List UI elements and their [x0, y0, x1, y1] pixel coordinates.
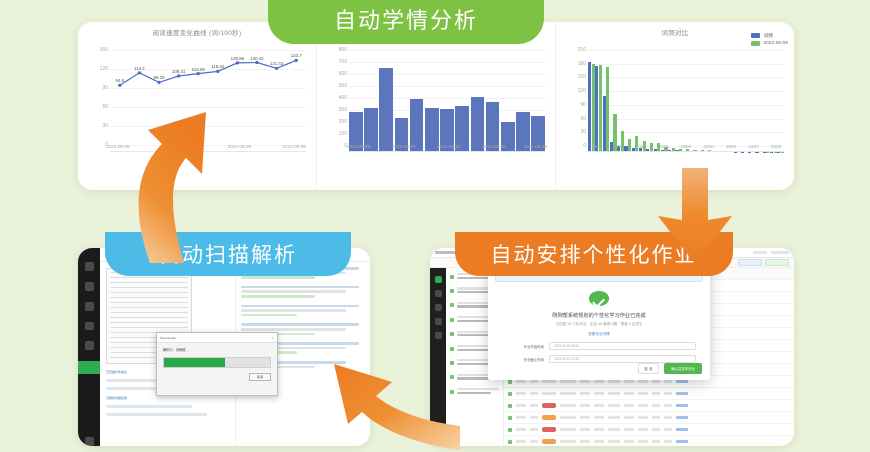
modal-title: 刚刚帮系统规划的个性化学习作业已完成	[488, 312, 710, 319]
settings-gear-icon[interactable]	[85, 437, 94, 446]
y-tick: 100	[325, 131, 347, 137]
table-cell	[664, 392, 672, 395]
field-label: 作业开始时间	[502, 344, 544, 349]
table-cell	[652, 380, 660, 383]
data-point-label: 133.7	[291, 53, 302, 58]
bar-group	[588, 44, 595, 152]
progress-bar	[163, 357, 271, 368]
table-row[interactable]	[504, 388, 794, 400]
table-cell	[580, 404, 590, 407]
progress-fill	[164, 358, 225, 367]
dialog-titlebar: Sourcecode ×	[157, 333, 277, 343]
bar-group	[632, 44, 639, 152]
data-point-label: 129.86	[231, 56, 244, 61]
scanner-app: 已扫描文件信息 已解析内容目录	[78, 248, 370, 446]
infographic-stage: 阅读速度变化曲线 (词/100秒) 150 120 90 60 30 0 94.…	[0, 0, 870, 452]
table-cell	[542, 439, 556, 444]
bar-group	[675, 44, 682, 152]
table-cell	[638, 404, 648, 407]
legend-swatch-icon	[751, 33, 760, 38]
status-dot	[450, 375, 454, 379]
assign-homework-button[interactable]	[765, 259, 789, 266]
bar-group	[755, 44, 762, 152]
table-row[interactable]	[504, 412, 794, 424]
bar	[599, 65, 602, 152]
cancel-button[interactable]: 取 消	[638, 363, 660, 374]
x-tick: 2022-06-09	[228, 144, 252, 149]
grouped-bar-series	[588, 44, 784, 152]
table-cell	[652, 392, 660, 395]
x-axis: 2008001400200026003200380044005000	[588, 142, 784, 154]
table-cell	[530, 428, 538, 431]
y-tick: 150	[86, 47, 108, 53]
start-time-field[interactable]: 作业开始时间 2022-06-09 08:00	[502, 342, 696, 350]
table-cell	[542, 427, 556, 432]
filter-button[interactable]	[738, 259, 762, 266]
table-cell	[676, 428, 688, 431]
y-tick: 120	[86, 66, 108, 72]
x-axis: 2022-06-09 2022-06-09 2022-06-09 2022-06…	[349, 142, 545, 154]
x-tick: 2022-06-09	[392, 144, 416, 149]
y-tick: 800	[325, 47, 347, 53]
bar-group	[770, 44, 777, 152]
table-cell	[652, 428, 660, 431]
bar-group	[697, 44, 704, 152]
y-tick: 200	[325, 119, 347, 125]
y-tick: 30	[86, 123, 108, 129]
table-cell	[594, 404, 604, 407]
bar-group	[690, 44, 697, 152]
y-tick: 0	[325, 143, 347, 149]
bar	[379, 68, 393, 152]
row-status-dot	[508, 404, 512, 408]
user-name[interactable]	[753, 251, 767, 254]
list-item[interactable]	[450, 388, 499, 395]
table-cell	[624, 392, 634, 395]
table-cell	[676, 440, 688, 443]
table-cell	[676, 380, 688, 383]
table-cell	[594, 416, 604, 419]
app-body: 已扫描文件信息 已解析内容目录	[100, 248, 370, 446]
list-item-label	[457, 388, 499, 395]
y-tick: 700	[325, 59, 347, 65]
y-tick: 90	[86, 85, 108, 91]
bar-group	[763, 44, 770, 152]
table-cell	[676, 404, 688, 407]
data-point-label: 109.41	[172, 69, 185, 74]
table-cell	[560, 428, 576, 431]
bar-group	[705, 44, 712, 152]
line-series: 94.8114.499.33109.41113.09116.62129.8613…	[110, 44, 306, 152]
data-point-label: 113.09	[192, 67, 205, 72]
table-cell	[594, 392, 604, 395]
settings-gear-icon[interactable]	[435, 434, 442, 441]
x-tick: 2022-06-09	[482, 144, 506, 149]
chart-reading-speed: 阅读速度变化曲线 (词/100秒) 150 120 90 60 30 0 94.…	[78, 22, 316, 190]
bar-group	[654, 44, 661, 152]
y-tick: 0	[564, 143, 586, 149]
table-cell	[516, 404, 526, 407]
table-cell	[530, 380, 538, 383]
start-time-input[interactable]: 2022-06-09 08:00	[549, 342, 696, 350]
table-cell	[542, 403, 556, 408]
x-tick: 2022-06-09	[347, 144, 371, 149]
logout-link[interactable]	[771, 251, 789, 254]
end-time-input[interactable]: 2022-06-12 22:00	[549, 355, 696, 363]
path-heading: 已解析内容目录	[106, 396, 229, 400]
x-tick: 1400	[636, 144, 646, 149]
data-point-label: 130.42	[250, 56, 263, 61]
table-row[interactable]	[504, 424, 794, 436]
bar-group	[683, 44, 690, 152]
data-point-label: 121.43	[270, 61, 283, 66]
table-cell	[580, 416, 590, 419]
row-status-dot	[508, 440, 512, 444]
table-cell	[664, 380, 672, 383]
table-cell	[624, 428, 634, 431]
x-tick: 2022-06-09	[282, 144, 306, 149]
x-axis: 2022-06-09 2022-06-09 2022-06-09 2022-06…	[110, 142, 306, 154]
table-cell	[652, 440, 660, 443]
status-dot	[450, 275, 454, 279]
table-cell	[530, 440, 538, 443]
table-cell	[516, 416, 526, 419]
y-tick: 60	[564, 116, 586, 122]
bar-group	[777, 44, 784, 152]
table-row[interactable]	[504, 436, 794, 446]
y-tick: 60	[86, 104, 108, 110]
data-point-label: 114.4	[134, 66, 145, 71]
homework-admin-card: 刚刚帮系统规划的个性化学习作业已完成 已匹配 12 个知识点 · 生成 48 道…	[430, 248, 794, 446]
y-tick: 30	[564, 129, 586, 135]
table-cell	[580, 428, 590, 431]
table-cell	[608, 404, 620, 407]
table-cell	[676, 392, 688, 395]
x-tick: 2022-06-09	[169, 144, 193, 149]
table-cell	[664, 428, 672, 431]
bar-group	[617, 44, 624, 152]
y-tick: 90	[564, 102, 586, 108]
dialog-title: Sourcecode	[160, 336, 176, 340]
scanner-app-card: 已扫描文件信息 已解析内容目录	[78, 248, 370, 446]
row-status-dot	[508, 416, 512, 420]
y-tick: 300	[325, 107, 347, 113]
data-point-label: 116.62	[211, 64, 224, 69]
bar-group	[741, 44, 748, 152]
table-cell	[516, 380, 526, 383]
y-tick: 210	[564, 47, 586, 53]
y-tick: 500	[325, 83, 347, 89]
table-cell	[624, 380, 634, 383]
table-cell	[516, 428, 526, 431]
table-cell	[530, 392, 538, 395]
table-cell	[580, 440, 590, 443]
y-tick: 120	[564, 88, 586, 94]
table-cell	[638, 392, 648, 395]
status-dot	[450, 289, 454, 293]
charts-row: 阅读速度变化曲线 (词/100秒) 150 120 90 60 30 0 94.…	[78, 22, 794, 190]
bar-group	[661, 44, 668, 152]
x-tick: 5000	[771, 144, 781, 149]
x-tick: 800	[615, 144, 623, 149]
data-point-label: 94.8	[116, 78, 125, 83]
x-tick: 2022-06-09	[106, 144, 130, 149]
list-icon[interactable]	[85, 302, 94, 311]
bar-group	[719, 44, 726, 152]
table-cell	[608, 440, 620, 443]
table-cell	[560, 380, 576, 383]
status-dot	[450, 347, 454, 351]
table-cell	[530, 404, 538, 407]
table-cell	[638, 428, 648, 431]
table-cell	[638, 416, 648, 419]
bar	[592, 64, 595, 152]
table-cell	[624, 440, 634, 443]
banner-auto-analysis: 自动学情分析	[268, 0, 544, 44]
banner-auto-scan: 自动扫描解析	[105, 232, 351, 276]
y-tick: 600	[325, 71, 347, 77]
table-cell	[594, 428, 604, 431]
bar-series	[349, 44, 545, 152]
star-icon[interactable]	[85, 341, 94, 350]
y-tick: 150	[564, 74, 586, 80]
x-tick: 2000	[658, 144, 668, 149]
bar-group	[639, 44, 646, 152]
bar-group	[646, 44, 653, 152]
x-tick: 3200	[703, 144, 713, 149]
chart-reading-volume: 逐次阅读量 8007006005004003002001000 2022-06-…	[316, 22, 555, 190]
table-cell	[560, 404, 576, 407]
x-tick: 2022-06-15	[523, 144, 547, 149]
table-cell	[664, 416, 672, 419]
line-chart-svg	[110, 44, 306, 152]
end-time-field[interactable]: 作业截止时间 2022-06-12 22:00	[502, 355, 696, 363]
bar	[606, 67, 609, 152]
table-cell	[516, 392, 526, 395]
user-icon[interactable]	[85, 282, 94, 291]
table-cell	[608, 416, 620, 419]
bar-group	[624, 44, 631, 152]
table-row[interactable]	[504, 400, 794, 412]
x-tick: 200	[592, 144, 600, 149]
meta-line	[106, 405, 192, 408]
meta-line	[106, 413, 207, 416]
analytics-card: 阅读速度变化曲线 (词/100秒) 150 120 90 60 30 0 94.…	[78, 22, 794, 190]
row-status-dot	[508, 428, 512, 432]
homework-icon[interactable]	[435, 304, 442, 311]
banner-auto-homework: 自动安排个性化作业	[455, 232, 733, 276]
data-point-label: 99.33	[154, 75, 165, 80]
table-cell	[608, 392, 620, 395]
modal-notice	[495, 275, 703, 282]
home-icon[interactable]	[85, 262, 94, 271]
bar-group	[668, 44, 675, 152]
table-cell	[608, 380, 620, 383]
table-cell	[530, 416, 538, 419]
bar-group	[712, 44, 719, 152]
bar-group	[726, 44, 733, 152]
x-tick: 3800	[726, 144, 736, 149]
table-cell	[560, 440, 576, 443]
scan-icon[interactable]	[78, 361, 100, 374]
plot-area: 8007006005004003002001000 2022-06-09 202…	[325, 44, 547, 152]
table-cell	[560, 416, 576, 419]
table-cell	[542, 415, 556, 420]
x-tick: 2600	[681, 144, 691, 149]
close-icon[interactable]: ×	[272, 336, 274, 340]
cancel-button[interactable]: 取消	[249, 373, 271, 381]
table-cell	[516, 440, 526, 443]
status-dot	[450, 318, 454, 322]
class-icon[interactable]	[435, 290, 442, 297]
table-cell	[594, 380, 604, 383]
homework-modal[interactable]: 刚刚帮系统规划的个性化学习作业已完成 已匹配 12 个知识点 · 生成 48 道…	[488, 262, 710, 380]
table-cell	[664, 440, 672, 443]
bar-group	[603, 44, 610, 152]
success-check-icon	[589, 291, 609, 306]
bar-group	[610, 44, 617, 152]
dashboard-icon[interactable]	[435, 276, 442, 283]
modal-subtitle: 已匹配 12 个知识点 · 生成 48 道练习题 · 覆盖 9 名学生	[488, 322, 710, 327]
table-cell	[594, 440, 604, 443]
x-tick: 4400	[748, 144, 758, 149]
y-tick: 180	[564, 61, 586, 67]
homework-admin: 刚刚帮系统规划的个性化学习作业已完成 已匹配 12 个知识点 · 生成 48 道…	[430, 248, 794, 446]
status-dot	[450, 361, 454, 365]
confirm-publish-button[interactable]: 确认并发布作业	[664, 363, 702, 374]
modal-footer: 取 消 确认并发布作业	[488, 363, 710, 380]
table-cell	[580, 392, 590, 395]
table-cell	[608, 428, 620, 431]
legend-label: 词频	[763, 32, 773, 39]
view-detail-link[interactable]: 查看作业详情	[488, 332, 710, 337]
y-tick: 400	[325, 95, 347, 101]
status-dot	[450, 303, 454, 307]
field-label: 作业截止时间	[502, 357, 544, 362]
table-cell	[560, 392, 576, 395]
table-cell	[638, 380, 648, 383]
row-status-dot	[508, 380, 512, 384]
table-cell	[542, 380, 556, 383]
table-cell	[652, 416, 660, 419]
library-icon[interactable]	[435, 332, 442, 339]
table-cell	[664, 404, 672, 407]
row-status-dot	[508, 392, 512, 396]
x-tick: 2022-06-09	[437, 144, 461, 149]
table-cell	[676, 416, 688, 419]
report-icon[interactable]	[435, 318, 442, 325]
y-tick: 0	[86, 142, 108, 148]
dialog-message: 解析中，请稍候...	[157, 343, 277, 352]
list-item[interactable]	[241, 286, 365, 298]
progress-dialog[interactable]: Sourcecode × 解析中，请稍候... 取消	[156, 332, 278, 396]
status-dot	[450, 332, 454, 336]
chart-word-frequency: 词频对比 词频 2022-06-09 2101801501209060300 2…	[555, 22, 794, 190]
table-cell	[542, 392, 556, 395]
table-cell	[624, 404, 634, 407]
list-item[interactable]	[241, 305, 365, 317]
status-dot	[450, 390, 454, 394]
app-sidebar	[78, 248, 100, 446]
table-cell	[580, 380, 590, 383]
legend-item: 词频	[751, 32, 788, 39]
web-sidebar	[430, 268, 446, 446]
folder-icon[interactable]	[85, 322, 94, 331]
plot-area: 2101801501209060300 20080014002000260032…	[564, 44, 786, 152]
bar-group	[734, 44, 741, 152]
table-cell	[624, 416, 634, 419]
bar-group	[748, 44, 755, 152]
bar-group	[595, 44, 602, 152]
table-cell	[652, 404, 660, 407]
plot-area: 150 120 90 60 30 0 94.8114.499.33109.411…	[86, 44, 308, 152]
table-cell	[638, 440, 648, 443]
